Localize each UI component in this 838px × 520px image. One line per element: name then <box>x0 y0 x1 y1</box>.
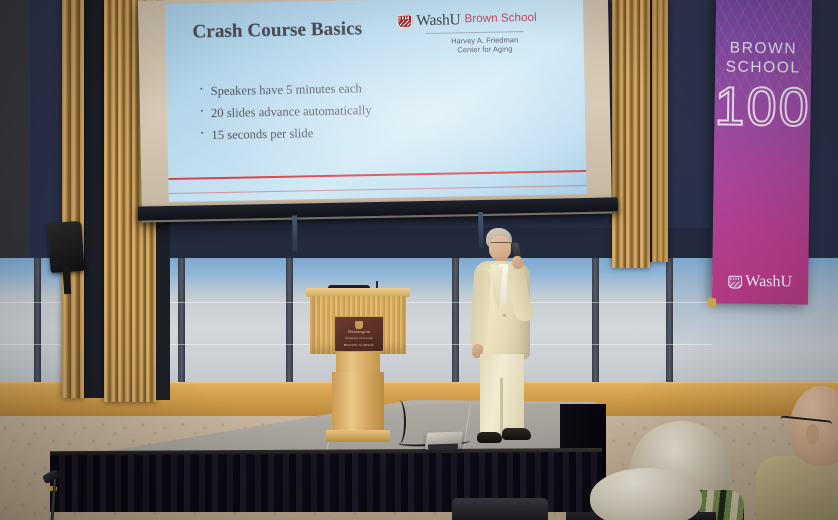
banner-washu-text: WashU <box>745 274 792 291</box>
presenter <box>470 228 544 450</box>
wood-slat-column-right-outer <box>652 0 668 262</box>
logo-unit-text: Brown School <box>464 13 536 26</box>
slat-gap <box>84 0 104 398</box>
window-mullion <box>666 258 673 386</box>
projected-slide: Crash Course Basics Speakers have 5 minu… <box>165 0 587 202</box>
slide-accent-rule <box>168 170 586 180</box>
lectern-front-panel: Washington University in St.Louis BROWN … <box>310 296 406 354</box>
wall-mounted-speaker-icon <box>47 221 84 273</box>
slide-bullet-item: Speakers have 5 minutes each <box>196 77 496 102</box>
plaque-line2: University in St.Louis <box>345 337 373 340</box>
projection-screen: Crash Course Basics Speakers have 5 minu… <box>138 0 612 226</box>
washu-shield-crest-icon <box>355 321 363 329</box>
window-mullion <box>286 258 293 386</box>
washu-shield-crest-icon <box>397 14 412 28</box>
banner-pole-finial <box>708 298 717 308</box>
screen-support-leg <box>292 216 298 252</box>
presenter-jacket-button <box>503 314 506 317</box>
wood-slat-column-left-outer <box>62 0 84 398</box>
lectern-plaque: Washington University in St.Louis BROWN … <box>334 316 384 352</box>
logo-center-line2: Center for Aging <box>410 43 560 55</box>
audience-member-head <box>590 468 702 520</box>
lectern-column <box>332 372 384 434</box>
washu-shield-crest-icon <box>728 275 742 288</box>
slide-title: Crash Course Basics <box>192 18 362 43</box>
presenter-left-shoe <box>477 432 502 443</box>
banner-line1: BROWN <box>715 39 811 58</box>
window-mullion <box>34 258 41 386</box>
slide-bullet-list: Speakers have 5 minutes each 20 slides a… <box>196 77 497 149</box>
slide-bullet-item: 20 slides advance automatically <box>197 99 497 124</box>
conference-presentation-photo: Crash Course Basics Speakers have 5 minu… <box>0 0 838 520</box>
left-wall-panel <box>0 0 30 262</box>
window-mullion <box>178 258 185 386</box>
wood-slat-column-right <box>612 0 650 268</box>
window-mullion <box>592 258 599 386</box>
logo-wordmark-row: WashU Brown School <box>397 10 557 29</box>
slide-accent-rule-secondary <box>169 185 587 194</box>
audience-chair-back <box>452 498 548 520</box>
window-mullion <box>452 258 459 386</box>
lectern: Washington University in St.Louis BROWN … <box>306 288 410 448</box>
banner-anniversary-number: 100 <box>714 75 811 138</box>
logo-center-name: Harvey A. Friedman Center for Aging <box>410 34 560 56</box>
presenter-glasses-icon <box>490 242 512 247</box>
presenter-right-shoe <box>502 428 531 440</box>
lectern-base <box>326 430 390 442</box>
brown-school-100-banner: BROWN SCHOOL 100 WashU <box>712 0 812 305</box>
slide-logo-lockup: WashU Brown School Harvey A. Friedman Ce… <box>397 10 558 56</box>
plaque-line1: Washington <box>348 330 371 335</box>
presenter-trouser-seam <box>500 378 503 436</box>
banner-footer-logo: WashU <box>712 273 808 290</box>
lectern-neck <box>336 352 380 374</box>
slide-bullet-item: 15 seconds per slide <box>197 121 497 146</box>
floor-monitor-base <box>428 443 458 450</box>
logo-washu-text: WashU <box>416 12 461 28</box>
logo-divider <box>426 31 524 34</box>
plaque-line3: BROWN SCHOOL <box>344 344 375 348</box>
